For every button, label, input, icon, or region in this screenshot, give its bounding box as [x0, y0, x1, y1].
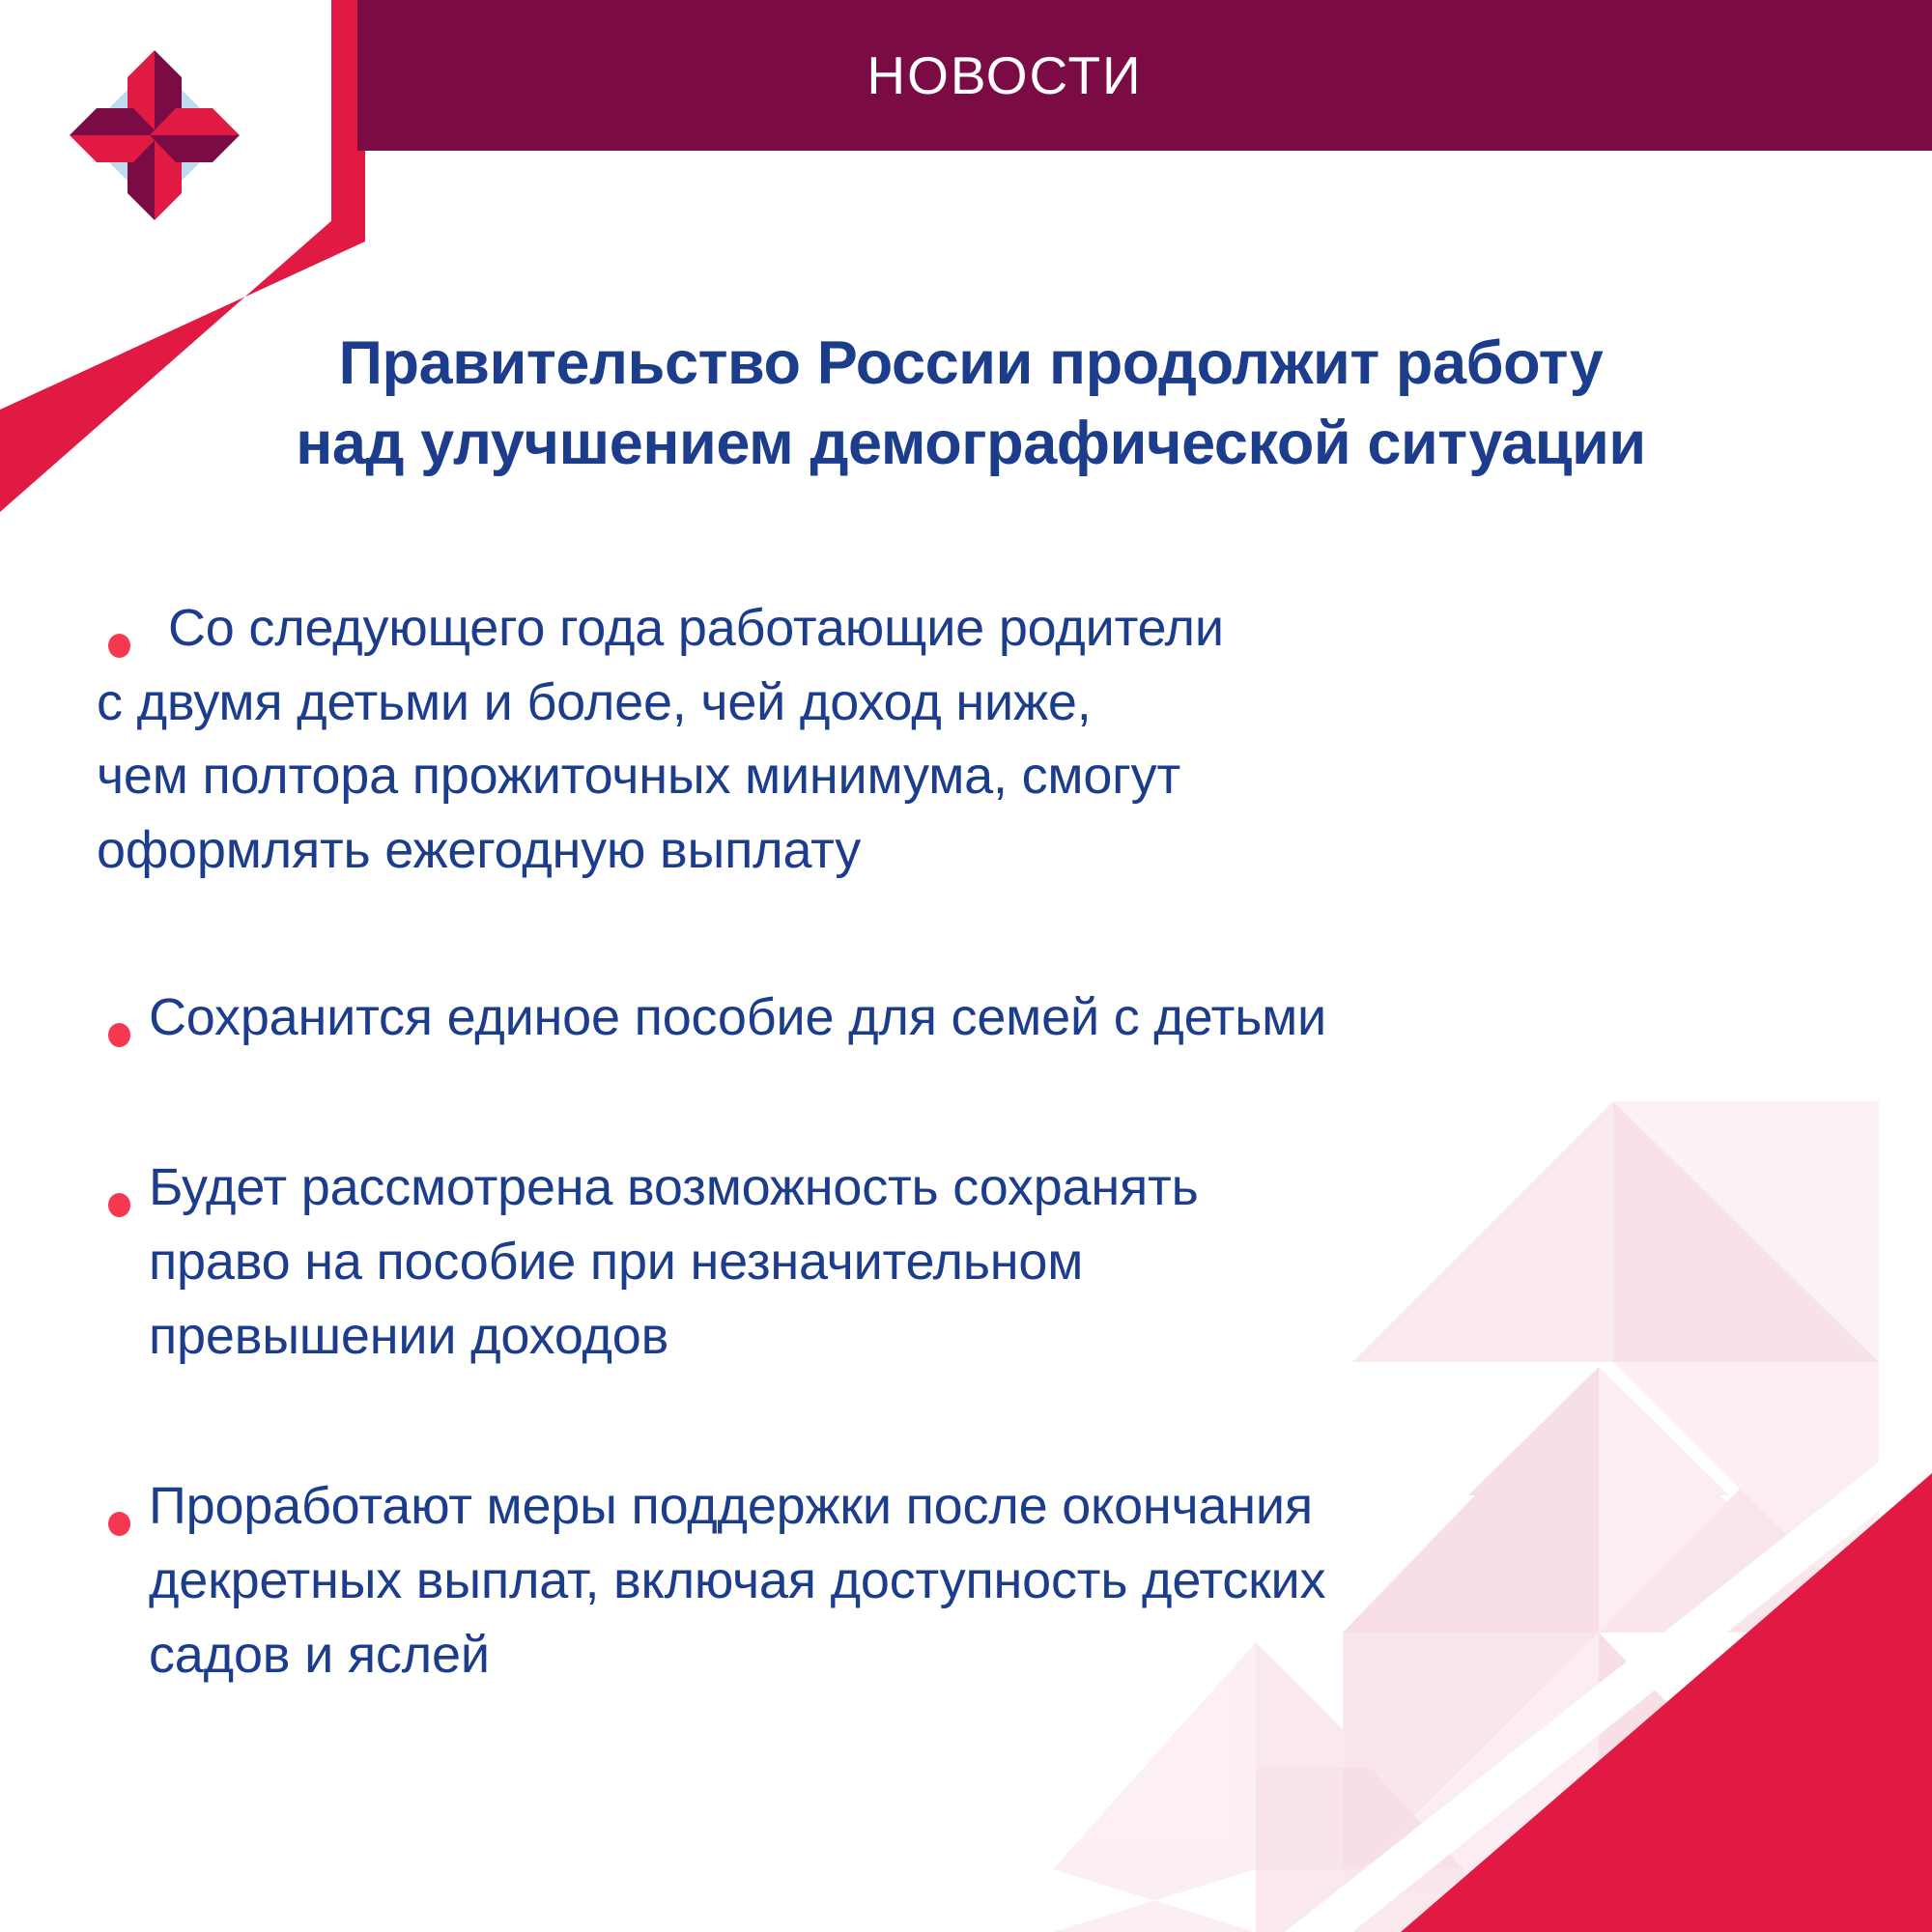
bullet-text-1: Со следующего года работающие родители с… — [97, 591, 1864, 888]
list-item: Сохранится единое пособие для семей с де… — [97, 980, 1864, 1055]
bullet-dot-icon — [108, 1023, 130, 1047]
bullet-text-4: Проработают меры поддержки после окончан… — [97, 1469, 1864, 1691]
list-item: Проработают меры поддержки после окончан… — [97, 1469, 1864, 1691]
news-card: НОВОСТИ Правительство России продолжит р… — [0, 0, 1932, 1932]
eight-pointed-star-logo — [58, 39, 251, 232]
bullet-text-3: Будет рассмотрена возможность сохранять … — [97, 1151, 1864, 1373]
page-title: НОВОСТИ — [357, 0, 1652, 151]
list-item: Будет рассмотрена возможность сохранять … — [97, 1151, 1864, 1373]
headline-line-1: Правительство России продолжит работу — [87, 324, 1855, 404]
headline: Правительство России продолжит работу на… — [87, 324, 1855, 484]
bullet-dot-icon — [108, 634, 130, 658]
bullet-list: Со следующего года работающие родители с… — [97, 591, 1864, 1759]
list-item: Со следующего года работающие родители с… — [97, 591, 1864, 888]
headline-line-2: над улучшением демографической ситуации — [87, 404, 1855, 484]
bullet-text-2: Сохранится единое пособие для семей с де… — [97, 980, 1864, 1055]
